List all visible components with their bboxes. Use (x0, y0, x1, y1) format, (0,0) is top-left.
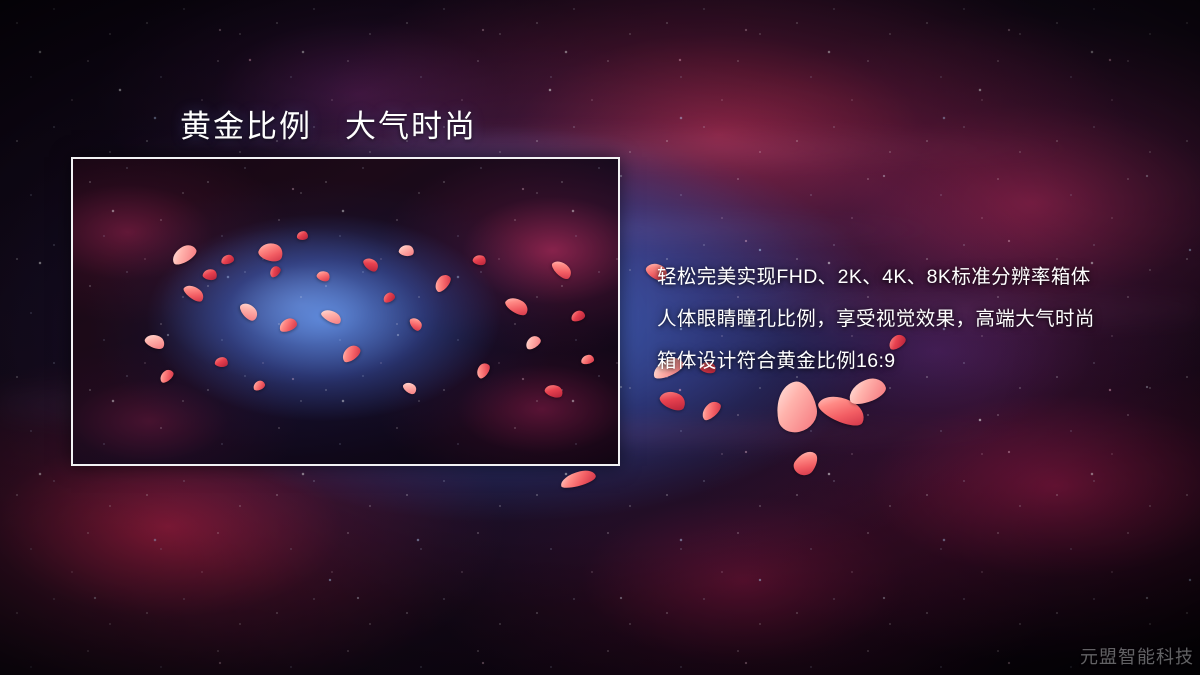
framed-starfield-medium-icon (73, 159, 618, 464)
body-line-2: 人体眼睛瞳孔比例，享受视觉效果，高端大气时尚 (657, 298, 1177, 340)
body-line-1: 轻松完美实现FHD、2K、4K、8K标准分辨率箱体 (657, 256, 1177, 298)
body-copy-block: 轻松完美实现FHD、2K、4K、8K标准分辨率箱体 人体眼睛瞳孔比例，享受视觉效… (657, 256, 1177, 382)
presentation-slide: 黄金比例 大气时尚 轻松完美实现FHD、2K、4K、8K标准分辨率箱体 人体眼睛… (0, 0, 1200, 675)
body-line-3: 箱体设计符合黄金比例16:9 (657, 340, 1177, 382)
company-watermark: 元盟智能科技 (1080, 643, 1194, 669)
slide-headline: 黄金比例 大气时尚 (180, 101, 477, 146)
product-image-frame (71, 157, 620, 466)
product-image (73, 159, 618, 464)
